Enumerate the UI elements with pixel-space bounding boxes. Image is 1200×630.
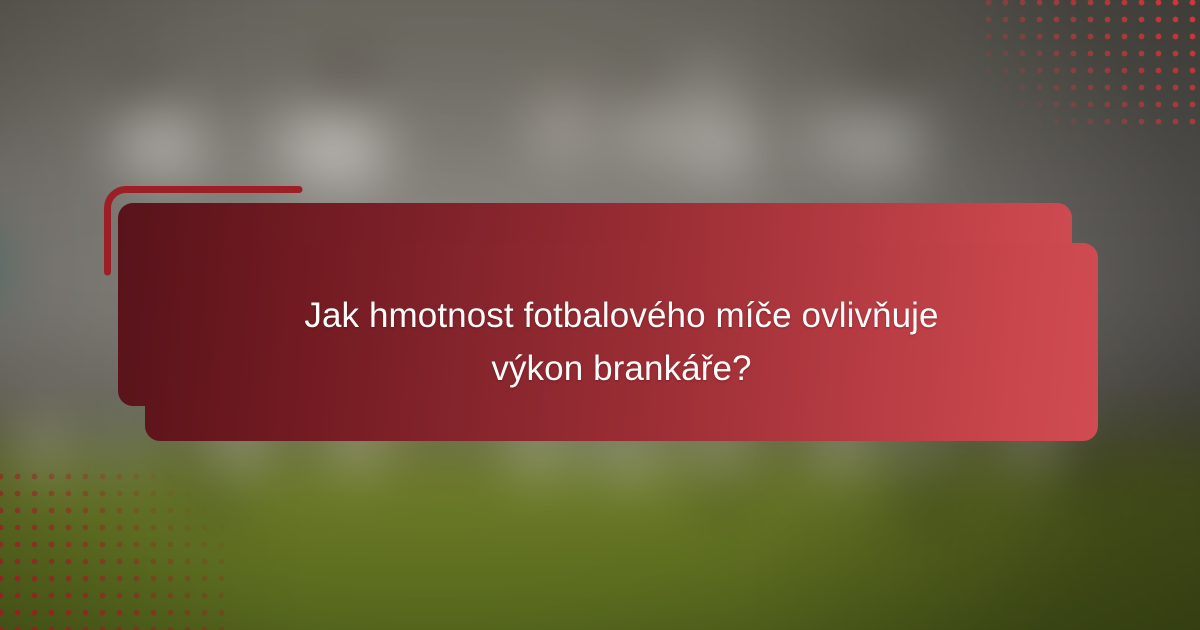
headline-container: Jak hmotnost fotbalového míče ovlivňuje …: [145, 243, 1098, 441]
halftone-dots-bottom-left-icon: [0, 468, 224, 630]
page-title: Jak hmotnost fotbalového míče ovlivňuje …: [304, 289, 938, 395]
halftone-dots-top-right-icon: [980, 0, 1200, 130]
share-card-canvas: Jak hmotnost fotbalového míče ovlivňuje …: [0, 0, 1200, 630]
